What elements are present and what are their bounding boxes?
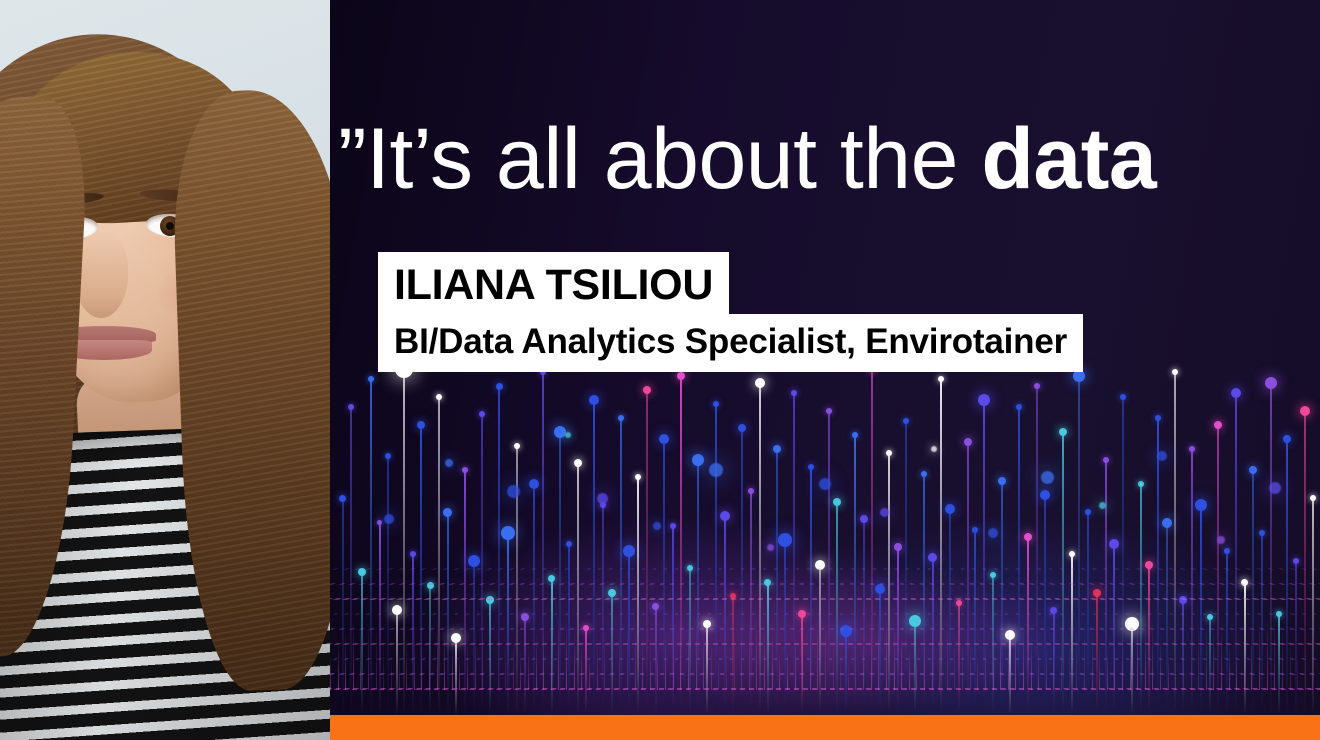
mesh-rib [1191,623,1192,690]
mesh-rib [650,649,651,690]
chart-bar-dot [1300,406,1310,416]
mesh-rib [947,616,948,690]
mesh-rib [1114,640,1115,690]
chart-bar-dot [998,477,1006,485]
mesh-rib [505,624,506,690]
mesh-rib [772,636,773,690]
chart-bar-dot [496,383,503,390]
mesh-rib [993,628,994,690]
mesh-rib [520,649,521,690]
mesh-rib [1198,617,1199,690]
chart-floating-dot [507,485,520,498]
chart-bar-dot [1040,490,1050,500]
mesh-rib [901,636,902,690]
chart-bar-dot [1016,404,1022,410]
chart-bar-dot [1195,499,1207,511]
mesh-rib [635,624,636,690]
mesh-rib [1046,647,1047,690]
chart-bar-dot [1120,394,1126,400]
mesh-rib [909,650,910,690]
mesh-rib [833,630,834,690]
chart-bar-dot [1214,421,1222,429]
mesh-rib [452,642,453,690]
mesh-rib [368,618,369,690]
mesh-rib [696,621,697,690]
mesh-rib [558,616,559,690]
chart-bar-dot [903,418,909,424]
chart-bar-dot [852,432,858,438]
mesh-rib [459,656,460,690]
pupil-right [166,222,174,230]
mesh-rib [429,616,430,690]
chart-floating-dot [565,432,571,438]
chart-floating-dot [445,459,453,467]
mesh-rib [391,649,392,690]
mesh-rib [863,628,864,690]
mesh-row [330,583,1320,585]
chart-bar-dot [1103,457,1109,463]
mesh-rib [1290,637,1291,690]
chart-bar-dot [1155,415,1161,421]
mesh-rib [627,618,628,690]
data-visualization-artwork [330,325,1320,715]
chart-bar-dot [385,453,391,459]
mesh-rib [1282,625,1283,690]
mesh-row [330,598,1320,600]
mesh-rib [741,620,742,690]
mesh-rib [1312,633,1313,690]
mesh-rib [1137,616,1138,690]
mesh-rib [1130,619,1131,690]
mesh-rib [779,650,780,690]
mesh-rib [1259,619,1260,690]
mesh-rib [1305,647,1306,690]
mesh-rib [414,624,415,690]
mesh-rib [406,635,407,690]
mesh-rib [1015,618,1016,690]
chart-bar-dot [978,394,990,406]
mesh-rib [1274,618,1275,690]
mesh-rib [604,629,605,690]
chart-bar-dot [677,372,685,380]
mesh-rib [894,625,895,690]
chart-bar-dot [1189,446,1195,452]
chart-bar-dot [348,404,354,410]
mesh-rib [1122,628,1123,690]
chart-bar-dot [860,515,868,523]
chart-bar-dot [692,454,704,466]
chart-bar-dot [713,401,719,407]
mesh-rib [421,617,422,690]
chart-bar-dot [659,434,669,444]
chart-bar-dot [436,394,442,400]
chart-floating-dot [384,514,394,524]
chart-bar-dot [1310,495,1316,501]
mesh-rib [536,635,537,690]
chart-bar-dot [574,459,582,467]
mesh-rib [360,616,361,690]
chart-bar-dot [1249,466,1257,474]
mesh-rib [597,641,598,690]
chart-bar-dot [443,508,452,517]
mesh-row [330,568,1320,570]
chart-bar-dot [945,504,955,514]
mesh-rib [1152,625,1153,690]
mesh-rib [985,640,986,690]
mesh-rib [726,641,727,690]
mesh-rib [848,655,849,690]
chart-bar-dot [554,426,566,438]
chart-bar-dot [886,450,892,456]
mesh-rib [437,620,438,690]
mesh-rib [1168,650,1169,690]
accent-bar [330,715,1320,740]
mesh-rib [1206,616,1207,690]
mesh-rib [1221,630,1222,690]
mesh-rib [718,655,719,690]
chart-bar-dot [1034,383,1040,389]
mesh-rib [756,618,757,690]
chart-bar-dot [339,495,346,502]
mesh-rib [1008,616,1009,690]
mesh-rib [680,617,681,690]
mesh-rib [764,625,765,690]
mesh-rib [353,620,354,690]
chart-bar-dot [368,376,374,382]
chart-bar-dot [826,408,832,414]
mesh-rib [1099,643,1100,690]
chart-bar-dot [738,424,746,432]
chart-bar-dot [514,443,520,449]
mesh-rib [345,629,346,690]
chart-floating-dot [819,478,831,490]
chart-floating-dot [709,463,723,477]
mesh-rib [1038,650,1039,690]
chart-bar-dot [643,386,651,394]
chart-floating-dot [1099,502,1106,509]
mesh-rib [825,621,826,690]
chart-bar-dot [479,411,485,417]
mesh-rib [467,641,468,690]
mesh-rib [1267,616,1268,690]
chart-bar-dot [1059,428,1067,436]
chart-bar-dot [635,474,641,480]
mesh-rib [612,620,613,690]
mesh-rib [962,630,963,690]
mesh-rib [1053,634,1054,690]
chart-bar-dot [1259,530,1265,536]
chart-bar-dot [1283,435,1291,443]
mesh-rib [970,643,971,690]
mesh-rib [513,635,514,690]
chart-bar-dot [773,445,781,453]
mesh-rib [673,624,674,690]
mesh-rib [528,648,529,690]
mesh-row [330,613,1320,614]
mesh-rib [1175,647,1176,690]
mesh-rib [1107,654,1108,690]
chart-bar-dot [791,390,797,396]
mesh-rib [642,636,643,690]
chart-bar-dot [833,498,841,506]
chart-bar-dot [1162,518,1172,528]
hero-panel: ”It’s all about the data ILIANA TSILIOU … [330,0,1320,740]
chart-bar-dot [417,421,425,429]
mesh-rib [878,616,879,690]
pull-quote: ”It’s all about the data [338,116,1320,202]
mesh-rib [1069,617,1070,690]
mesh-rib [1084,621,1085,690]
mesh-rib [1061,623,1062,690]
chart-bar-dot [377,520,382,525]
mesh-rib [490,616,491,690]
mesh-rib [840,643,841,690]
mesh-rib [749,616,750,690]
mesh-rib [444,629,445,690]
chart-bar-dot [748,488,754,494]
mesh-rib [589,655,590,690]
chart-bar-dot [462,467,468,473]
chart-bar-dot [670,523,676,529]
mesh-rib [817,616,818,690]
mesh-rib [795,634,796,690]
chart-floating-dot [653,522,661,530]
mesh-rib [1023,625,1024,690]
mesh-rib [1145,618,1146,690]
chart-bar-dot [964,438,972,446]
mesh-rib [787,648,788,690]
mesh-rib [1297,651,1298,690]
mesh-rib [330,656,331,690]
mesh-rib [581,642,582,690]
mesh-rib [802,624,803,691]
mesh-rib [1092,630,1093,690]
mesh-rib [338,642,339,690]
mesh-rib [1031,636,1032,690]
speaker-name: ILIANA TSILIOU [378,252,729,315]
mesh-rib [810,617,811,690]
wave-mesh-grid [330,540,1320,690]
chart-bar-dot [921,471,927,477]
chart-floating-dot [597,493,608,504]
mesh-rib [657,648,658,690]
chart-bar-dot [1138,481,1144,487]
mesh-rib [1236,654,1237,690]
mesh-rib [482,620,483,690]
mesh-rib [939,617,940,690]
hero-card: ”It’s all about the data ILIANA TSILIOU … [0,0,1320,740]
mesh-rib [734,628,735,690]
chart-bar-dot [808,464,814,470]
mesh-rib [688,616,689,690]
mesh-rib [977,655,978,690]
chart-bar-dot [529,479,539,489]
chart-floating-dot [1157,451,1167,461]
mesh-rib [399,649,400,690]
quote-open-mark: ” [338,111,366,207]
chart-floating-dot [1269,482,1281,494]
mesh-rib [916,647,917,690]
chart-bar-dot [720,511,730,521]
mesh-rib [498,618,499,690]
speaker-portrait-photo [0,0,330,740]
chart-bar-dot [1265,377,1277,389]
mesh-rib [924,634,925,690]
mesh-rib [551,617,552,690]
chart-bar-dot [938,376,944,382]
mesh-rib [703,630,704,690]
mesh-rib [954,621,955,690]
chart-floating-dot [1041,471,1054,484]
chart-bar-dot [589,395,599,405]
speaker-title: BI/Data Analytics Specialist, Envirotain… [378,314,1083,372]
mesh-rib [566,620,567,690]
mesh-rib [886,618,887,690]
mesh-rib [932,623,933,690]
mesh-rib [855,641,856,690]
mesh-rib [711,642,712,690]
chart-bar-dot [1231,388,1241,398]
mesh-rib [1076,616,1077,690]
mesh-rib [1183,633,1184,690]
chart-bar-dot [755,378,765,388]
mesh-rib [543,624,544,690]
mesh-rib [619,616,620,690]
mesh-rib [1229,643,1230,690]
mesh-rib [871,620,872,690]
chart-bar-dot [618,415,624,421]
chart-floating-dot [880,508,889,517]
speaker-name-card: ILIANA TSILIOU BI/Data Analytics Special… [378,252,1083,372]
quote-text-bold: data [981,111,1156,207]
mesh-rib [383,635,384,690]
mesh-rib [574,629,575,690]
mesh-rib [1160,636,1161,690]
mesh-rib [665,634,666,690]
mesh-rib [1251,628,1252,690]
chart-bar-dot [1172,369,1178,375]
mesh-rib [475,629,476,690]
mesh-rib [1244,640,1245,690]
quote-text-light: It’s all about the [366,111,981,207]
mesh-rib [1213,621,1214,690]
mesh-rib [1000,620,1001,690]
chart-floating-dot [931,446,937,452]
mesh-rib [376,624,377,690]
